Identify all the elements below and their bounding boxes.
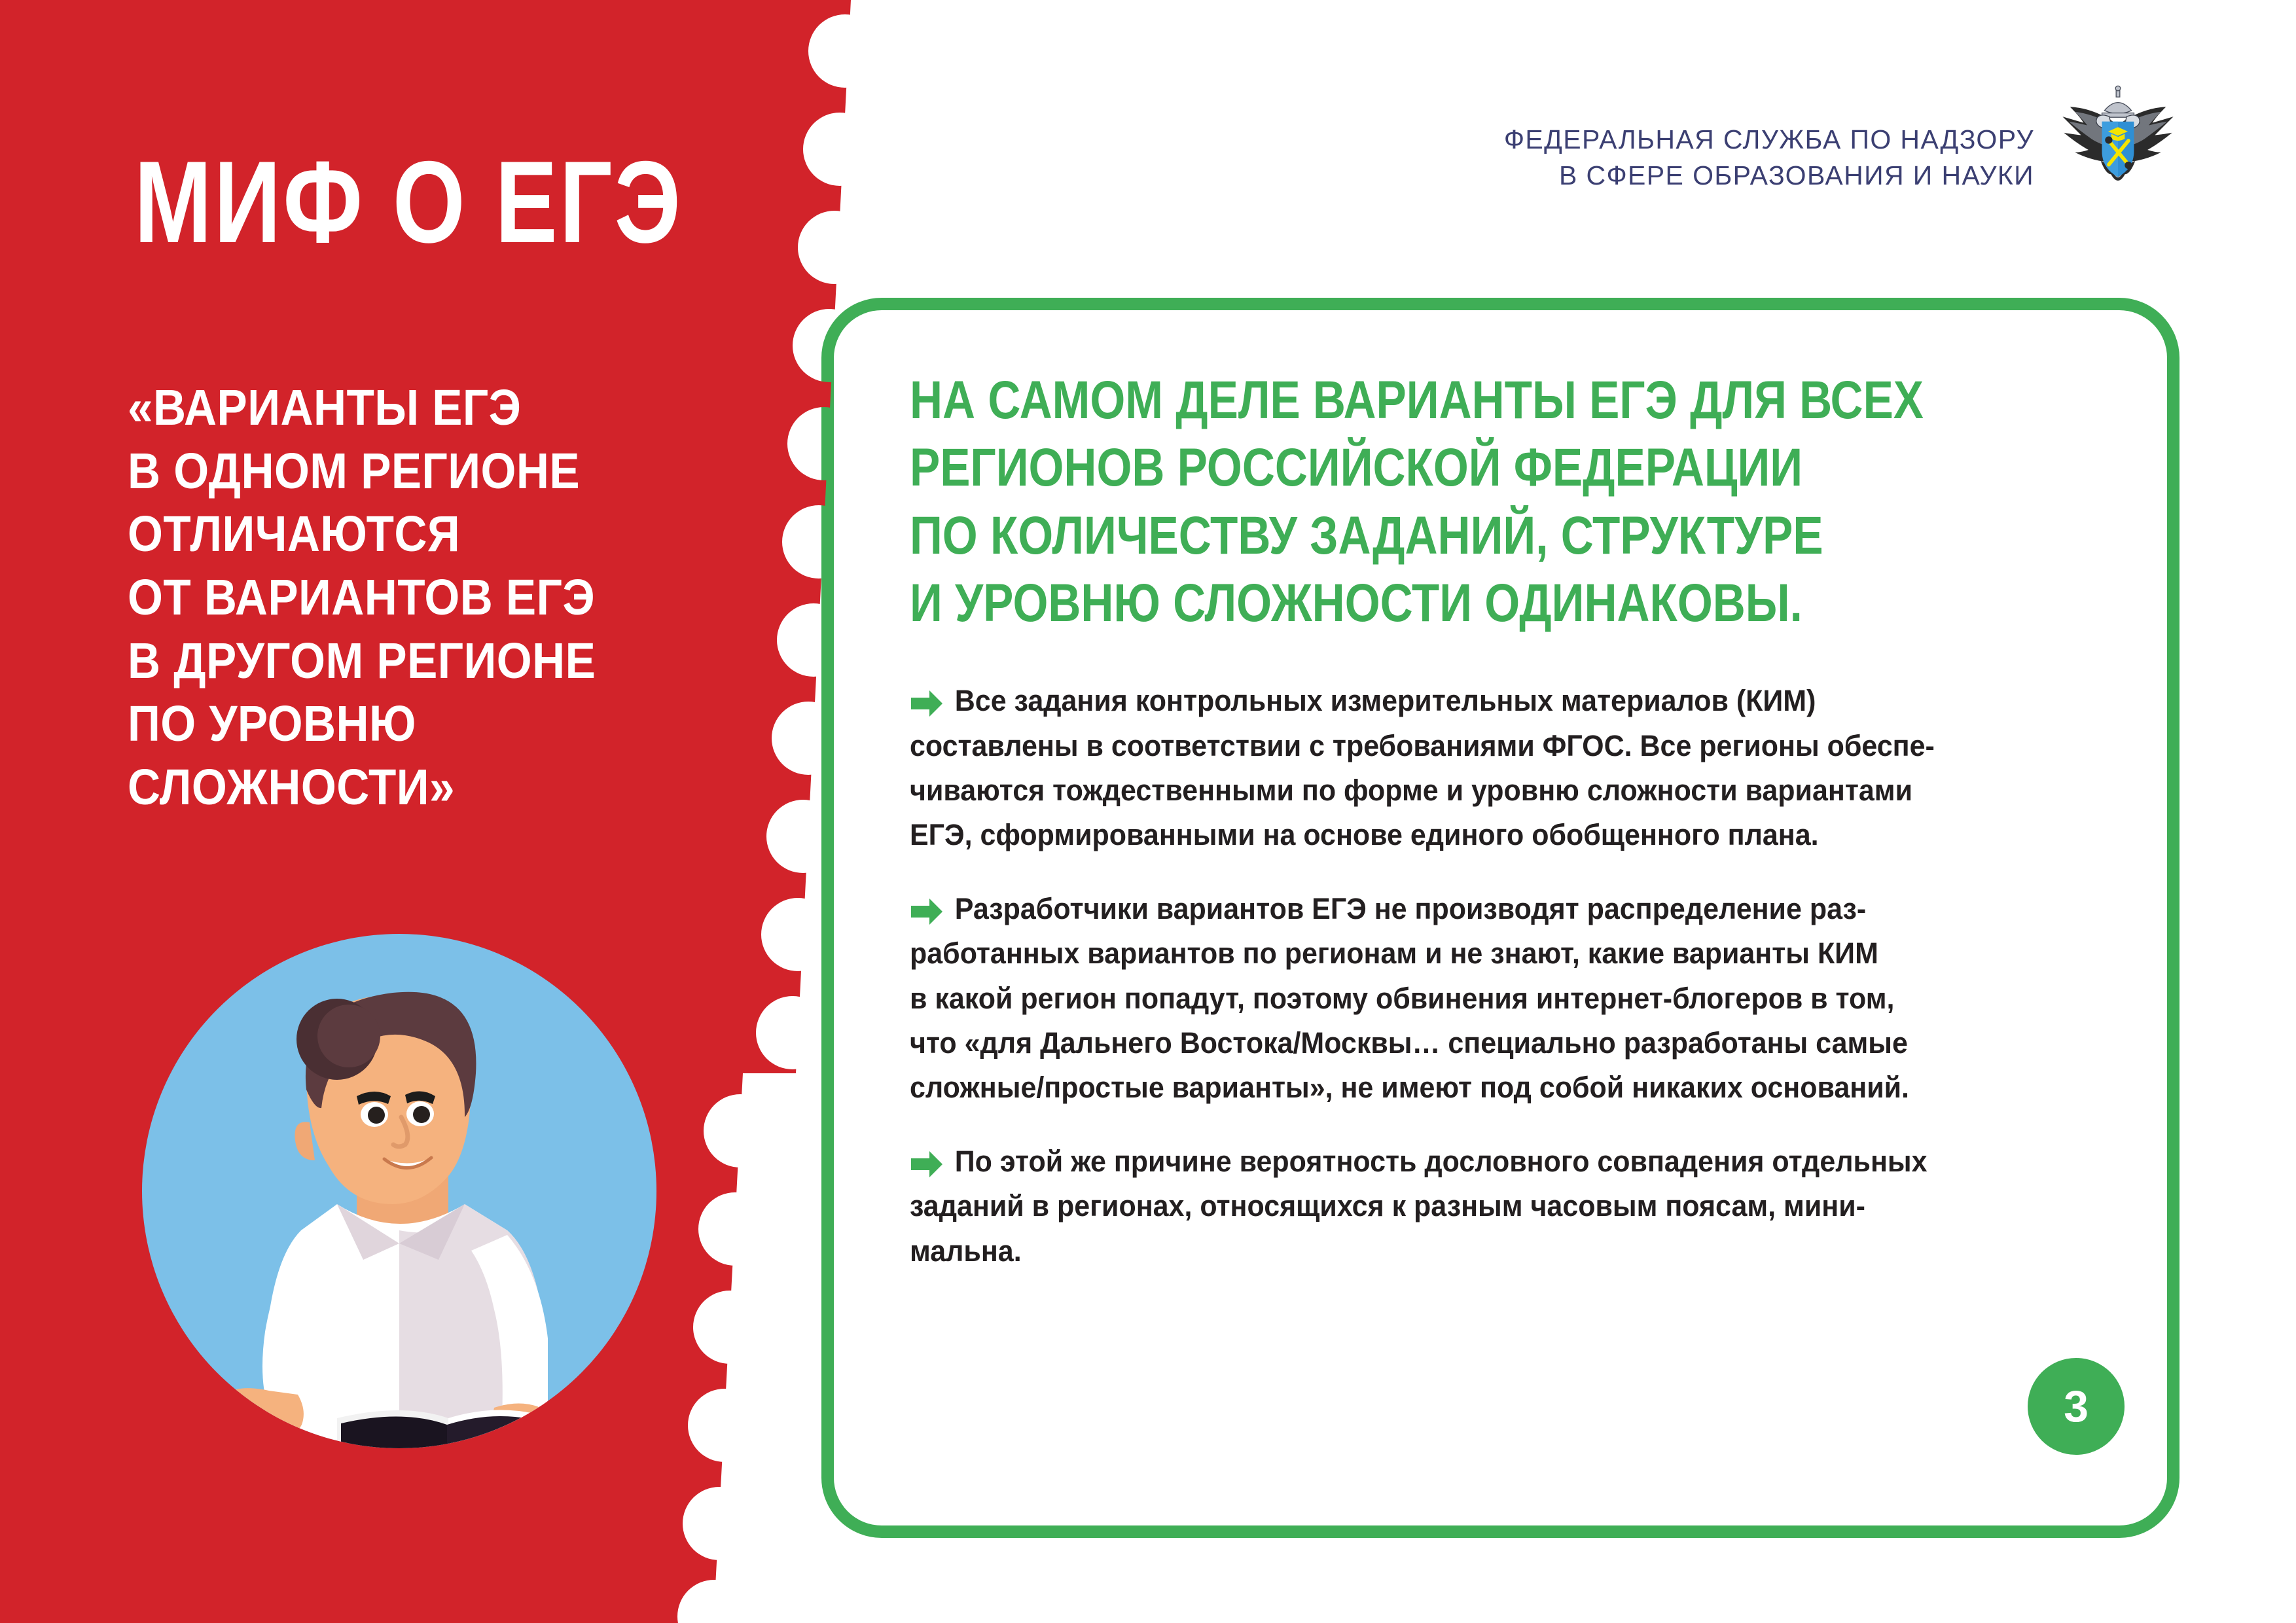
fact-bullet-text: По этой же причине вероятность дословног…: [910, 1139, 2108, 1274]
page-title: МИФ О ЕГЭ: [134, 144, 683, 260]
myth-quote-line: ПО УРОВНЮ: [128, 692, 740, 756]
fact-headline-line: И УРОВНЮ СЛОЖНОСТИ ОДИНАКОВЫ.: [910, 569, 1922, 637]
myth-quote-line: ОТ ВАРИАНТОВ ЕГЭ: [128, 566, 740, 630]
gov-org-name: ФЕДЕРАЛЬНАЯ СЛУЖБА ПО НАДЗОРУ В СФЕРЕ ОБ…: [1504, 122, 2034, 193]
myth-quote-line: «ВАРИАНТЫ ЕГЭ: [128, 376, 740, 440]
fact-bullet-line: работанных вариантов по регионам и не зн…: [910, 931, 2054, 976]
fact-bullet-line: что «для Дальнего Востока/Москвы… специа…: [910, 1021, 2054, 1065]
gov-org-line-2: В СФЕРЕ ОБРАЗОВАНИЯ И НАУКИ: [1504, 158, 2034, 194]
fact-bullet-line: составлены в соответствии с требованиями…: [910, 724, 2054, 768]
teacher-with-book-illustration: [141, 933, 658, 1623]
fact-bullet-list: Все задания контрольных измерительных ма…: [910, 679, 2108, 1274]
fact-bullet-line: сложные/простые варианты», не имеют под …: [910, 1065, 2054, 1110]
fact-bullet-line: По этой же причине вероятность дословног…: [910, 1139, 2054, 1184]
fact-bullet-line: чиваются тождественными по форме и уровн…: [910, 768, 2054, 813]
rosobrnadzor-eagle-emblem-icon: [2056, 79, 2179, 202]
fact-bullet-text: Разработчики вариантов ЕГЭ не производят…: [910, 887, 2108, 1111]
fact-bullet-line: Все задания контрольных измерительных ма…: [910, 679, 2054, 723]
fact-bullet-line: в какой регион попадут, поэтому обвинени…: [910, 976, 2054, 1021]
fact-headline-line: ПО КОЛИЧЕСТВУ ЗАДАНИЙ, СТРУКТУРЕ: [910, 502, 1922, 569]
fact-bullet-text: Все задания контрольных измерительных ма…: [910, 679, 2108, 858]
myth-quote-line: СЛОЖНОСТИ»: [128, 756, 740, 819]
fact-headline: НА САМОМ ДЕЛЕ ВАРИАНТЫ ЕГЭ ДЛЯ ВСЕХ РЕГИ…: [910, 366, 2108, 637]
myth-quote: «ВАРИАНТЫ ЕГЭ В ОДНОМ РЕГИОНЕ ОТЛИЧАЮТСЯ…: [128, 376, 808, 819]
myth-quote-line: В ДРУГОМ РЕГИОНЕ: [128, 630, 740, 693]
fact-content: НА САМОМ ДЕЛЕ ВАРИАНТЫ ЕГЭ ДЛЯ ВСЕХ РЕГИ…: [910, 366, 2108, 1302]
infographic-page: МИФ О ЕГЭ «ВАРИАНТЫ ЕГЭ В ОДНОМ РЕГИОНЕ …: [0, 0, 2296, 1623]
gov-header: ФЕДЕРАЛЬНАЯ СЛУЖБА ПО НАДЗОРУ В СФЕРЕ ОБ…: [1504, 122, 2179, 202]
fact-bullet-line: мальна.: [910, 1229, 2054, 1274]
gov-org-line-1: ФЕДЕРАЛЬНАЯ СЛУЖБА ПО НАДЗОРУ: [1504, 122, 2034, 158]
fact-bullet-item: По этой же причине вероятность дословног…: [910, 1139, 2108, 1274]
myth-quote-line: В ОДНОМ РЕГИОНЕ: [128, 440, 740, 503]
fact-headline-line: РЕГИОНОВ РОССИЙСКОЙ ФЕДЕРАЦИИ: [910, 434, 1922, 501]
myth-quote-line: ОТЛИЧАЮТСЯ: [128, 503, 740, 566]
fact-bullet-line: ЕГЭ, сформированными на основе единого о…: [910, 813, 2054, 857]
fact-headline-line: НА САМОМ ДЕЛЕ ВАРИАНТЫ ЕГЭ ДЛЯ ВСЕХ: [910, 366, 1922, 434]
page-number-badge: 3: [2028, 1358, 2125, 1455]
fact-bullet-line: Разработчики вариантов ЕГЭ не производят…: [910, 887, 2054, 931]
fact-bullet-item: Все задания контрольных измерительных ма…: [910, 679, 2108, 858]
fact-bullet-item: Разработчики вариантов ЕГЭ не производят…: [910, 887, 2108, 1111]
fact-bullet-line: заданий в регионах, относящихся к разным…: [910, 1184, 2054, 1228]
